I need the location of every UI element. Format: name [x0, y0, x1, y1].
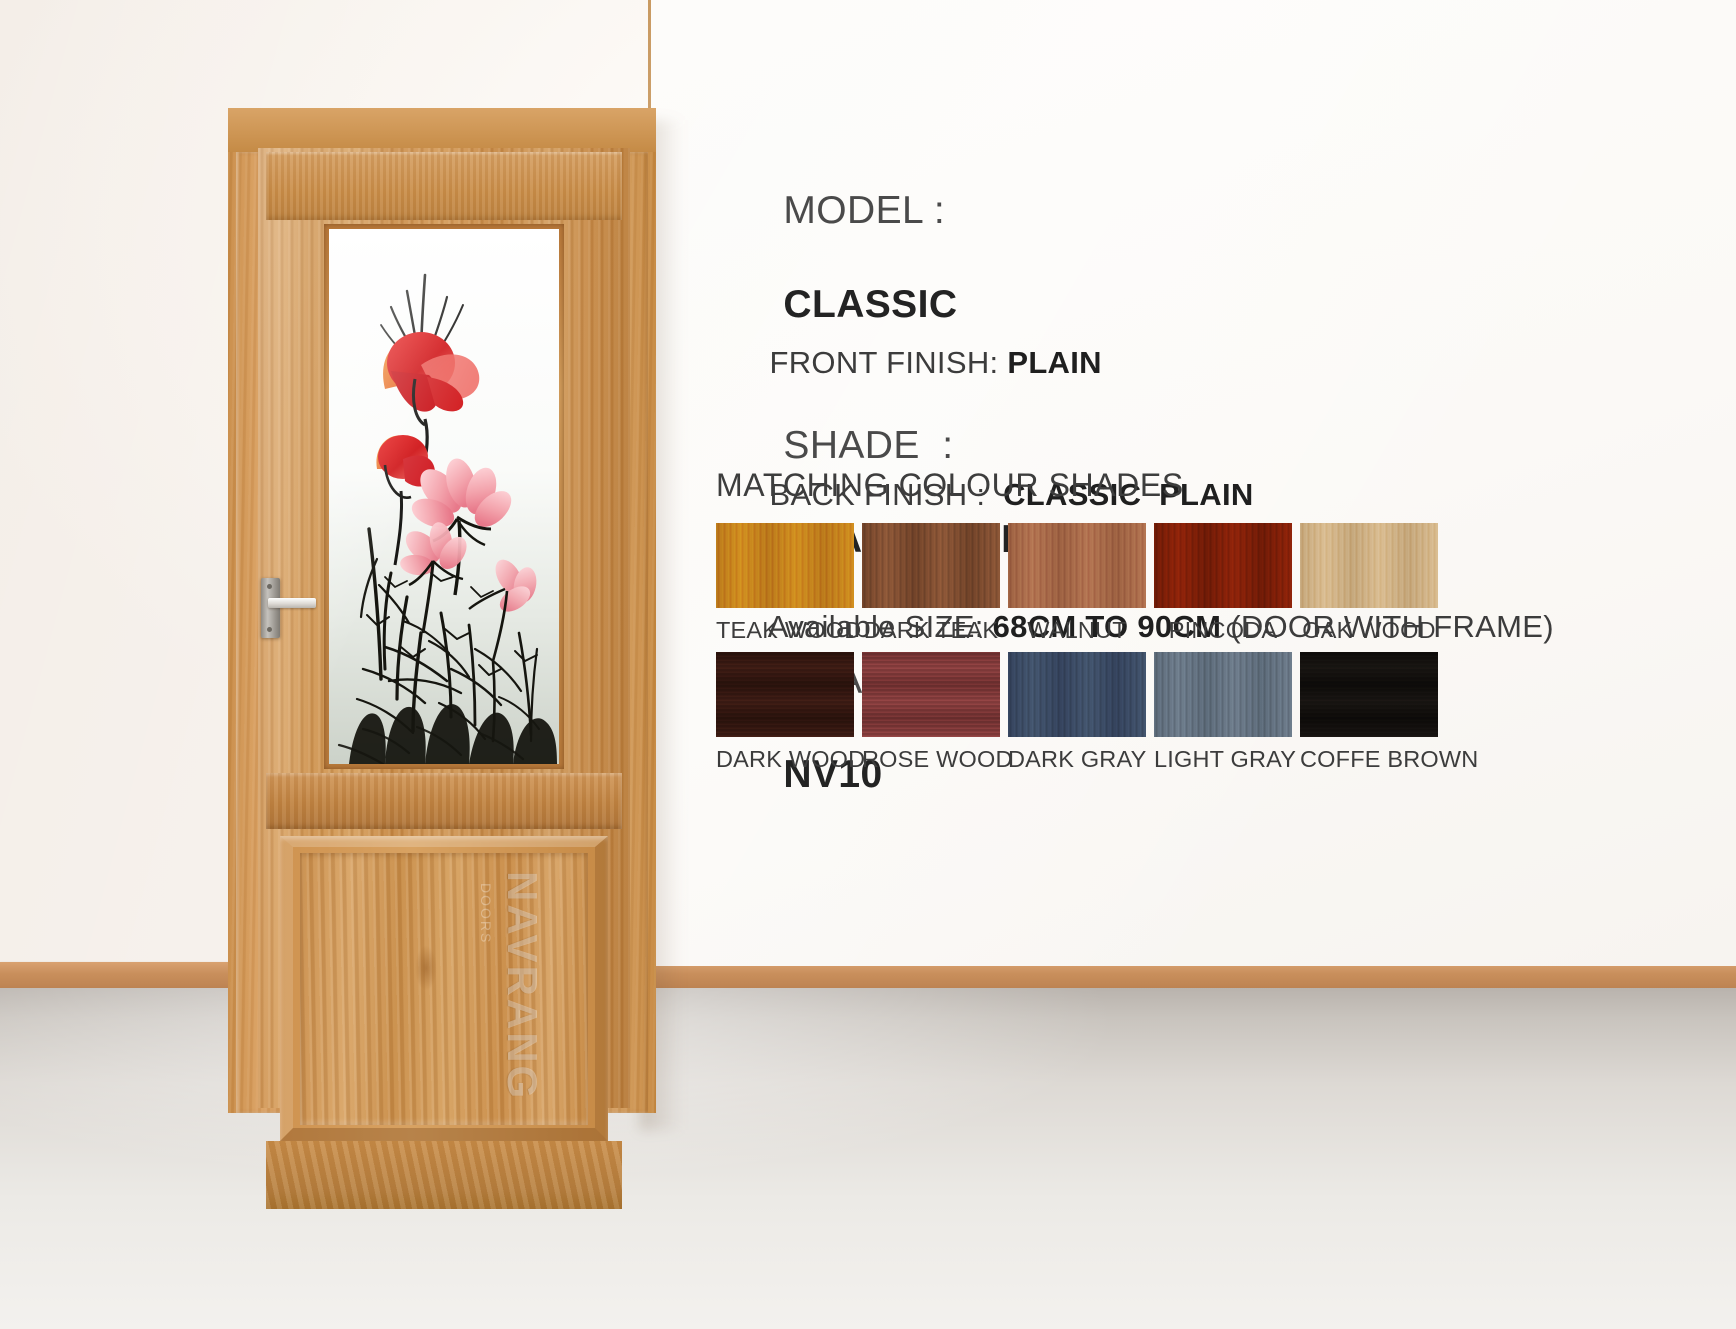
- floral-glass-artwork: [329, 229, 559, 764]
- door-bottom-rail: [266, 1141, 622, 1209]
- colour-swatch-grid: TEAK WOOD DARK TEAK WALNUT PINCODA OAK W…: [716, 523, 1444, 781]
- swatch-label-dark-teak: DARK TEAK: [862, 608, 1000, 652]
- swatch-label-oak-wood: OAK WOOD: [1300, 608, 1438, 652]
- brand-watermark-sub: DOORS: [478, 883, 494, 944]
- swatch-dark-gray[interactable]: DARK GRAY: [1008, 652, 1146, 781]
- spec-label-model: MODEL :: [783, 189, 945, 232]
- swatch-coffe-brown[interactable]: COFFE BROWN: [1300, 652, 1438, 781]
- swatch-oak-wood[interactable]: OAK WOOD: [1300, 523, 1438, 652]
- swatch-chip-pincoda[interactable]: [1154, 523, 1292, 608]
- swatch-chip-walnut[interactable]: [1008, 523, 1146, 608]
- swatch-rose-wood[interactable]: ROSE WOOD: [862, 652, 1000, 781]
- door-product-image: NAVRANG DOORS: [228, 96, 668, 1116]
- swatch-walnut[interactable]: WALNUT: [1008, 523, 1146, 652]
- door-top-rail: [266, 152, 622, 220]
- swatch-label-walnut: WALNUT: [1008, 608, 1146, 652]
- swatch-chip-dark-teak[interactable]: [862, 523, 1000, 608]
- swatch-chip-light-gray[interactable]: [1154, 652, 1292, 737]
- handle-screw-top: [267, 584, 272, 589]
- swatch-row-2: DARK WOOD ROSE WOOD DARK GRAY LIGHT GRAY…: [716, 652, 1444, 781]
- swatch-label-dark-wood: DARK WOOD: [716, 737, 854, 781]
- swatch-chip-rose-wood[interactable]: [862, 652, 1000, 737]
- swatch-dark-wood[interactable]: DARK WOOD: [716, 652, 854, 781]
- finish-row-front: FRONT FINISH: PLAIN: [716, 297, 1696, 429]
- door-mid-rail: [266, 773, 622, 829]
- brand-watermark: NAVRANG: [498, 871, 546, 1101]
- swatch-label-rose-wood: ROSE WOOD: [862, 737, 1000, 781]
- swatch-label-coffe-brown: COFFE BROWN: [1300, 737, 1438, 781]
- swatch-label-pincoda: PINCODA: [1154, 608, 1292, 652]
- door-handle-lever[interactable]: [268, 598, 316, 608]
- matching-shades-title: MATCHING COLOUR SHADES: [716, 467, 1184, 504]
- swatch-label-light-gray: LIGHT GRAY: [1154, 737, 1292, 781]
- swatch-pincoda[interactable]: PINCODA: [1154, 523, 1292, 652]
- finish-label-front: FRONT FINISH:: [769, 345, 1007, 380]
- product-catalog-page: NAVRANG DOORS MODEL : CLASSIC SHADE : TE…: [0, 0, 1736, 1329]
- swatch-chip-coffe-brown[interactable]: [1300, 652, 1438, 737]
- swatch-chip-oak-wood[interactable]: [1300, 523, 1438, 608]
- finish-value-front: PLAIN: [1007, 345, 1102, 380]
- handle-screw-bottom: [267, 627, 272, 632]
- swatch-chip-teak-wood[interactable]: [716, 523, 854, 608]
- swatch-dark-teak[interactable]: DARK TEAK: [862, 523, 1000, 652]
- swatch-chip-dark-wood[interactable]: [716, 652, 854, 737]
- swatch-label-dark-gray: DARK GRAY: [1008, 737, 1146, 781]
- swatch-teak-wood[interactable]: TEAK WOOD: [716, 523, 854, 652]
- swatch-chip-dark-gray[interactable]: [1008, 652, 1146, 737]
- swatch-label-teak-wood: TEAK WOOD: [716, 608, 854, 652]
- swatch-light-gray[interactable]: LIGHT GRAY: [1154, 652, 1292, 781]
- wood-knot: [415, 945, 437, 991]
- door-frame-head: [228, 108, 656, 152]
- door-handle-plate[interactable]: [261, 578, 280, 638]
- swatch-row-1: TEAK WOOD DARK TEAK WALNUT PINCODA OAK W…: [716, 523, 1444, 652]
- door-glass-panel: [329, 229, 559, 764]
- door-bottom-panel: NAVRANG DOORS: [300, 853, 588, 1125]
